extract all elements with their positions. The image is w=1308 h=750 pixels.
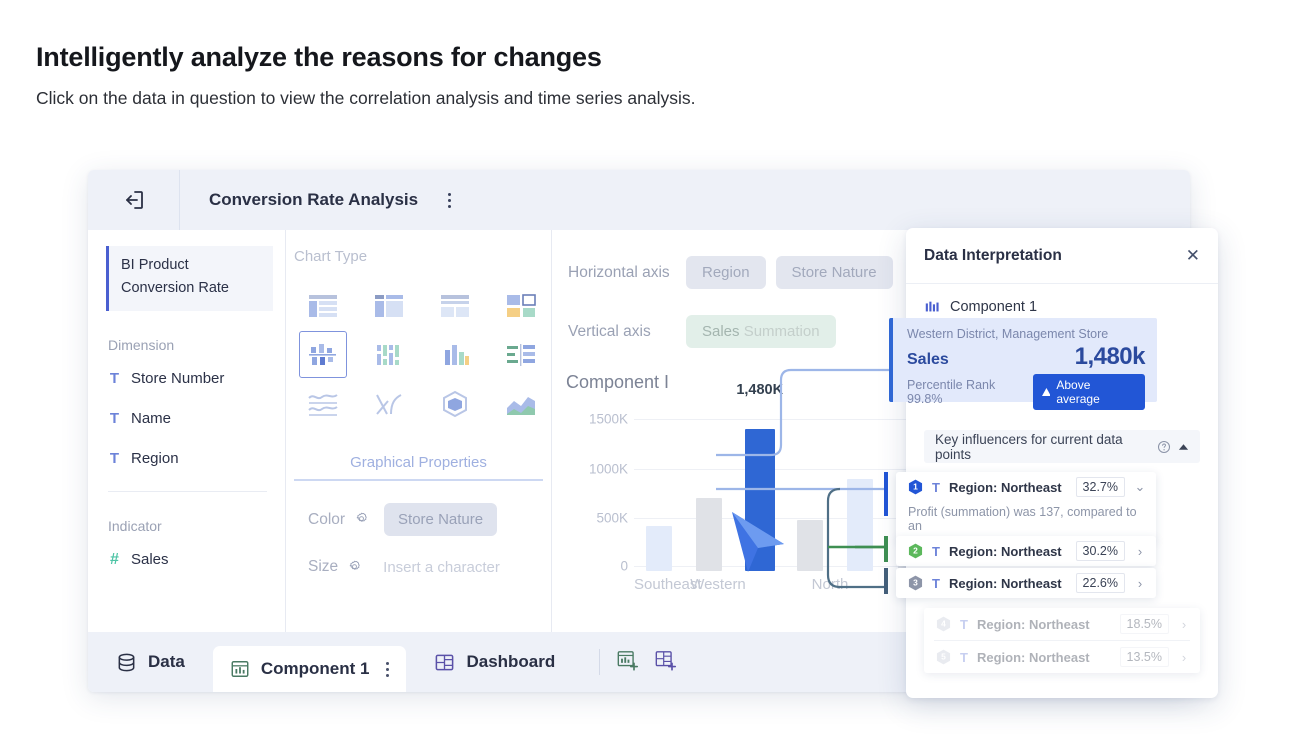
dimension-field-region[interactable]: T Region	[108, 439, 285, 479]
bar-chart-icon	[504, 341, 538, 369]
property-row-size: Size Insert a character	[308, 558, 551, 576]
rank-badge-5: 5	[936, 649, 951, 665]
influencer-label: Region: Northeast	[977, 650, 1111, 665]
dimension-label: Store Number	[131, 370, 224, 387]
chart-type-area[interactable]	[488, 379, 554, 428]
text-field-icon: T	[932, 480, 940, 495]
titlebar-more-button[interactable]	[448, 193, 451, 208]
close-icon[interactable]: ✕	[1186, 246, 1200, 266]
text-field-icon: T	[108, 370, 121, 387]
app-title: Conversion Rate Analysis	[209, 190, 418, 210]
bottom-tab-label: Dashboard	[466, 652, 555, 672]
dimension-group-label: Dimension	[108, 337, 285, 353]
vertical-axis-chip-field: Sales	[702, 323, 740, 340]
cursor-pointer-icon	[728, 500, 790, 576]
horizontal-axis-label: Horizontal axis	[568, 264, 686, 282]
bottom-tab-data[interactable]: Data	[88, 632, 213, 692]
tooltip-subtitle: Western District, Management Store	[907, 327, 1145, 341]
bottom-tab-component-1[interactable]: Component 1	[213, 646, 407, 692]
exit-left-icon	[122, 188, 146, 212]
horizontal-axis-chip-region[interactable]: Region	[686, 256, 766, 289]
rank-badge-2: 2	[908, 543, 923, 559]
horizontal-axis-chip-store-nature[interactable]: Store Nature	[776, 256, 893, 289]
component-tab-more-button[interactable]	[386, 662, 389, 677]
influencer-row[interactable]: 3 T Region: Northeast 22.6% ›	[896, 568, 1156, 598]
key-influencers-section: Key influencers for current data points	[924, 430, 1200, 463]
chevron-down-icon[interactable]: ⌄	[1134, 479, 1146, 495]
influencer-row[interactable]: 4 T Region: Northeast 18.5% ›	[924, 608, 1200, 640]
chevron-right-icon[interactable]: ›	[1178, 650, 1190, 665]
chevron-right-icon[interactable]: ›	[1134, 576, 1146, 591]
indicator-group-label: Indicator	[108, 518, 285, 534]
grouped-column-chart-icon	[307, 341, 339, 369]
bottom-tab-label: Data	[148, 652, 185, 672]
column-chart-icon	[439, 341, 471, 369]
question-circle-icon[interactable]	[1157, 440, 1171, 454]
indicator-card-icon	[504, 292, 538, 320]
status-badge-label: Above average	[1056, 378, 1136, 406]
app-titlebar: Conversion Rate Analysis	[88, 170, 1190, 230]
indicator-field-sales[interactable]: # Sales	[108, 540, 285, 580]
tooltip-metric-row: Sales 1,480k	[907, 343, 1145, 371]
influencer-row[interactable]: 5 T Region: Northeast 13.5% ›	[924, 641, 1200, 673]
influencer-card-3[interactable]: 3 T Region: Northeast 22.6% ›	[896, 568, 1156, 598]
influencer-label: Region: Northeast	[949, 480, 1067, 495]
chart-type-area-wave[interactable]	[290, 379, 356, 428]
chart-type-indicator-card[interactable]	[488, 281, 554, 330]
status-badge: Above average	[1033, 374, 1146, 410]
dataset-line-1: BI Product	[121, 254, 263, 277]
y-tick-label: 0	[620, 559, 628, 574]
svg-text:1: 1	[913, 482, 918, 492]
rank-badge-3: 3	[908, 575, 923, 591]
chevron-right-icon[interactable]: ›	[1178, 617, 1190, 632]
chevron-right-icon[interactable]: ›	[1134, 544, 1146, 559]
bar-slot	[785, 406, 835, 571]
data-interpretation-component-row: Component 1	[906, 284, 1218, 321]
add-chart-button[interactable]	[616, 649, 640, 678]
vertical-axis-chip-aggregation: Summation	[744, 323, 820, 340]
triangle-up-icon	[1042, 388, 1051, 396]
influencer-percent: 13.5%	[1120, 647, 1169, 667]
area-wave-chart-icon	[306, 390, 340, 418]
svg-text:2: 2	[913, 546, 918, 556]
page-root: Intelligently analyze the reasons for ch…	[0, 0, 1308, 750]
y-tick-label: 500K	[596, 511, 628, 526]
database-icon	[116, 652, 137, 673]
text-field-icon: T	[960, 617, 968, 632]
dataset-line-2: Conversion Rate	[121, 277, 263, 300]
tooltip-metric-value: 1,480k	[1075, 343, 1145, 371]
pivot-table-icon	[372, 292, 406, 320]
svg-text:3: 3	[913, 578, 918, 588]
influencer-card-2[interactable]: 2 T Region: Northeast 30.2% ›	[896, 536, 1156, 566]
influencer-percent: 30.2%	[1076, 541, 1125, 561]
summary-table-icon	[438, 292, 472, 320]
data-source-panel: BI Product Conversion Rate Dimension T S…	[88, 230, 286, 632]
tooltip-percentile: Percentile Rank 99.8%	[907, 378, 1033, 406]
add-chart-icon	[616, 649, 640, 673]
text-field-icon: T	[932, 576, 940, 591]
rank-badge-1: 1	[908, 479, 923, 495]
polygon-chart-icon	[440, 389, 470, 419]
y-tick-label: 1000K	[589, 461, 628, 476]
chart-type-cross-table[interactable]	[290, 281, 356, 330]
scatter-chart-icon	[373, 390, 405, 418]
chevron-up-icon[interactable]	[1178, 443, 1189, 451]
influencer-row[interactable]: 1 T Region: Northeast 32.7% ⌄	[896, 472, 1156, 502]
y-axis: 1500K 1000K 500K 0	[566, 406, 628, 571]
add-dashboard-icon	[654, 649, 678, 673]
multi-column-chart-icon	[373, 341, 405, 369]
bar[interactable]	[646, 526, 672, 571]
property-row-color: Color Store Nature	[308, 503, 551, 536]
rank-badge-4: 4	[936, 616, 951, 632]
cross-table-icon	[306, 292, 340, 320]
key-influencers-title: Key influencers for current data points	[935, 432, 1150, 462]
influencer-percent: 22.6%	[1076, 573, 1125, 593]
vertical-axis-chip-sales[interactable]: Sales Summation	[686, 315, 836, 348]
influencer-card-faded[interactable]: 4 T Region: Northeast 18.5% › 5 T Region…	[924, 608, 1200, 673]
page-title: Intelligently analyze the reasons for ch…	[36, 42, 602, 73]
bar[interactable]	[797, 520, 823, 571]
text-field-icon: T	[960, 650, 968, 665]
text-field-icon: T	[108, 450, 121, 467]
back-button[interactable]	[88, 170, 180, 230]
chart-type-summary-table[interactable]	[422, 281, 488, 330]
chart-type-polygon[interactable]	[422, 379, 488, 428]
chart-type-selected-box	[299, 331, 347, 378]
dimension-field-name[interactable]: T Name	[108, 399, 285, 439]
dimension-label: Name	[131, 410, 171, 427]
property-placeholder[interactable]: Insert a character	[383, 559, 500, 576]
property-value-chip[interactable]: Store Nature	[384, 503, 497, 536]
vertical-axis-label: Vertical axis	[568, 323, 686, 341]
text-field-icon: T	[108, 410, 121, 427]
chart-type-panel: Chart Type	[286, 230, 552, 632]
dimension-field-store-number[interactable]: T Store Number	[108, 359, 285, 399]
add-dashboard-button[interactable]	[654, 649, 678, 678]
data-interpretation-title: Data Interpretation	[924, 247, 1186, 265]
chart-type-column[interactable]	[422, 330, 488, 379]
influencer-label: Region: Northeast	[977, 617, 1111, 632]
area-chart-icon	[504, 390, 538, 418]
chart-type-title: Chart Type	[294, 248, 551, 265]
dataset-chip[interactable]: BI Product Conversion Rate	[106, 246, 273, 311]
chart-type-multi-column[interactable]	[356, 330, 422, 379]
graphical-properties-rule	[294, 479, 543, 481]
x-tick-label: Southeast	[634, 576, 690, 593]
page-subtitle: Click on the data in question to view th…	[36, 88, 696, 109]
key-influencers-header[interactable]: Key influencers for current data points	[924, 430, 1200, 463]
bar-value-label: 1,480K	[736, 382, 783, 429]
influencer-percent: 18.5%	[1120, 614, 1169, 634]
data-point-tooltip: Western District, Management Store Sales…	[889, 318, 1157, 402]
bar-slot	[634, 406, 684, 571]
chart-type-grouped-column[interactable]	[290, 330, 356, 379]
influencer-percent: 32.7%	[1076, 477, 1125, 497]
x-tick-label: Western	[690, 576, 746, 593]
influencer-row[interactable]: 2 T Region: Northeast 30.2% ›	[896, 536, 1156, 566]
svg-text:5: 5	[941, 652, 946, 662]
bar[interactable]	[847, 479, 873, 571]
bar-chart-small-icon	[924, 299, 940, 315]
property-label: Size	[308, 558, 338, 576]
data-interpretation-header: Data Interpretation ✕	[906, 228, 1218, 284]
tooltip-metric-label: Sales	[907, 351, 949, 369]
x-tick-label: North	[802, 576, 858, 593]
graphical-properties-title: Graphical Properties	[286, 454, 551, 471]
dimension-label: Region	[131, 450, 179, 467]
svg-text:4: 4	[941, 619, 946, 629]
chart-type-bar[interactable]	[488, 330, 554, 379]
gear-icon[interactable]	[353, 511, 370, 528]
bar-chart-small-icon	[230, 659, 250, 679]
bottom-tab-label: Component 1	[261, 659, 370, 679]
chart-type-scatter[interactable]	[356, 379, 422, 428]
chart-type-grid	[290, 281, 551, 428]
property-label: Color	[308, 511, 345, 529]
bottom-tab-dashboard[interactable]: Dashboard	[406, 632, 583, 692]
data-interpretation-component-label: Component 1	[950, 299, 1037, 315]
x-tick-label-empty	[746, 576, 802, 593]
bar-slot	[835, 406, 885, 571]
tooltip-footer: Percentile Rank 99.8% Above average	[907, 374, 1145, 410]
bar[interactable]	[696, 498, 722, 571]
gear-icon[interactable]	[346, 559, 363, 576]
toolbar-divider	[599, 649, 600, 675]
text-field-icon: T	[932, 544, 940, 559]
influencer-label: Region: Northeast	[949, 544, 1067, 559]
influencer-card-1[interactable]: 1 T Region: Northeast 32.7% ⌄ Profit (su…	[896, 472, 1156, 542]
panel-divider	[108, 491, 267, 492]
indicator-label: Sales	[131, 551, 169, 568]
number-field-icon: #	[108, 551, 121, 569]
y-tick-label: 1500K	[589, 412, 628, 427]
chart-type-pivot-table[interactable]	[356, 281, 422, 330]
dashboard-grid-icon	[434, 652, 455, 673]
influencer-label: Region: Northeast	[949, 576, 1067, 591]
